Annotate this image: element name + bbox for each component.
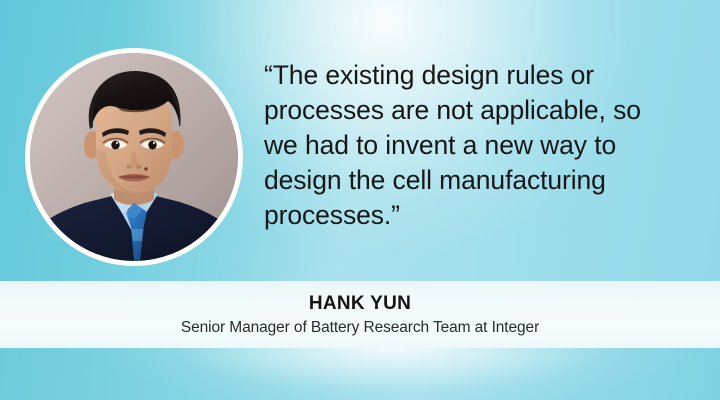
- portrait-illustration: [30, 53, 238, 261]
- quote-text: “The existing design rules or processes …: [264, 58, 694, 233]
- quote-line: “The existing design rules or: [264, 58, 694, 93]
- quote-line: processes are not applicable, so: [264, 93, 694, 128]
- attribution-role: Senior Manager of Battery Research Team …: [181, 318, 539, 338]
- portrait-avatar: [25, 48, 243, 266]
- quote-line: design the cell manufacturing: [264, 163, 694, 198]
- quote-line: we had to invent a new way to: [264, 128, 694, 163]
- quote-slide: “The existing design rules or processes …: [0, 0, 720, 400]
- background-bottom-strip: [0, 348, 720, 400]
- attribution-name: HANK YUN: [309, 292, 411, 316]
- portrait-image: [30, 53, 238, 261]
- quote-line: processes.”: [264, 198, 694, 233]
- attribution: HANK YUN Senior Manager of Battery Resea…: [0, 281, 720, 348]
